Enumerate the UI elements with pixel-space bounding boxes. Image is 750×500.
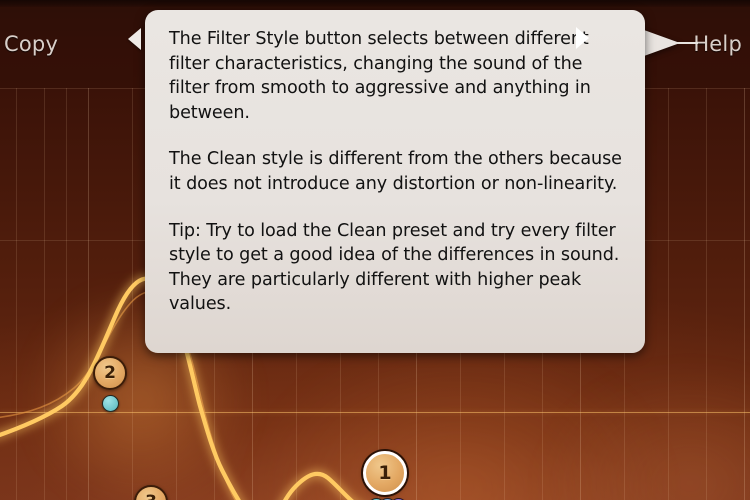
copy-button[interactable]: Copy — [4, 32, 58, 56]
band-2-handle[interactable] — [102, 395, 119, 412]
triangle-left-icon[interactable] — [128, 28, 141, 50]
tooltip-paragraph-1: The Filter Style button selects between … — [169, 27, 623, 125]
band-marker-label: 3 — [145, 492, 157, 500]
triangle-right-icon[interactable] — [576, 27, 589, 49]
window-top-strip — [0, 0, 750, 7]
tooltip-spacer — [169, 197, 623, 219]
band-marker-label: 2 — [104, 363, 116, 383]
tooltip-tail — [644, 30, 680, 56]
tooltip-paragraph-3: Tip: Try to load the Clean preset and tr… — [169, 219, 623, 317]
band-marker-1[interactable]: 1 — [363, 451, 407, 495]
help-button[interactable]: Help — [693, 32, 742, 56]
band-marker-label: 1 — [378, 462, 391, 484]
plugin-window: 2 3 1 Copy Help The Filter Style button … — [0, 0, 750, 500]
tooltip-tail-line — [676, 42, 698, 44]
band-marker-2[interactable]: 2 — [93, 356, 127, 390]
tooltip-spacer — [169, 125, 623, 147]
help-tooltip[interactable]: The Filter Style button selects between … — [145, 10, 645, 353]
tooltip-paragraph-2: The Clean style is different from the ot… — [169, 147, 623, 196]
main-response-curve — [266, 474, 750, 500]
